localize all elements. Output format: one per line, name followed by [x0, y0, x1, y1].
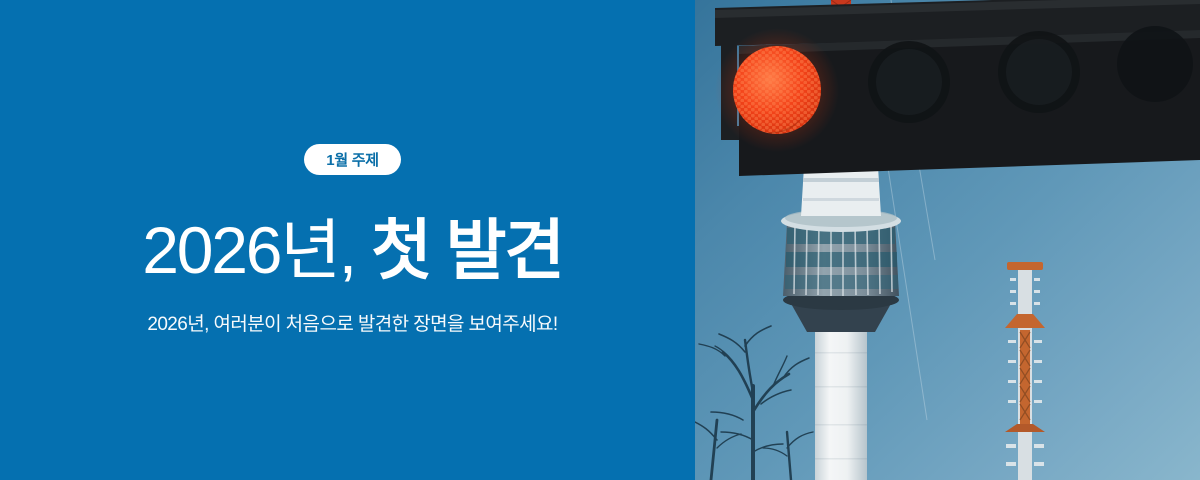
headline-emphasis-part: 첫 발견	[371, 213, 563, 287]
mast-cap	[1007, 262, 1043, 270]
banner-subtitle: 2026년, 여러분이 처음으로 발견한 장면을 보여주세요!	[147, 309, 557, 336]
text-stack: 1월 주제 2026년, 첫 발견 2026년, 여러분이 처음으로 발견한 장…	[0, 0, 695, 480]
tower-shaft	[815, 332, 867, 480]
text-stack-inner: 1월 주제 2026년, 첫 발견 2026년, 여러분이 처음으로 발견한 장…	[113, 144, 593, 336]
upper-drum-band-2	[803, 198, 879, 201]
banner-text-panel: 1월 주제 2026년, 첫 발견 2026년, 여러분이 처음으로 발견한 장…	[0, 0, 695, 480]
green-lens-inner	[1006, 39, 1072, 105]
upper-drum-band	[803, 178, 879, 182]
signal-fourth-lamp-unlit	[1117, 26, 1193, 102]
signal-led-matrix	[733, 46, 821, 134]
deck-windows	[785, 228, 898, 289]
banner-photo	[695, 0, 1200, 480]
traffic-light	[715, 0, 1200, 176]
photo-illustration	[695, 0, 1200, 480]
month-topic-badge: 1월 주제	[304, 144, 400, 175]
amber-lens-inner	[876, 49, 942, 115]
headline-year-part: 2026년,	[142, 213, 371, 287]
banner-headline: 2026년, 첫 발견	[142, 217, 563, 283]
tower-upper-drum	[801, 166, 881, 216]
promo-banner: 1월 주제 2026년, 첫 발견 2026년, 여러분이 처음으로 발견한 장…	[0, 0, 1200, 480]
